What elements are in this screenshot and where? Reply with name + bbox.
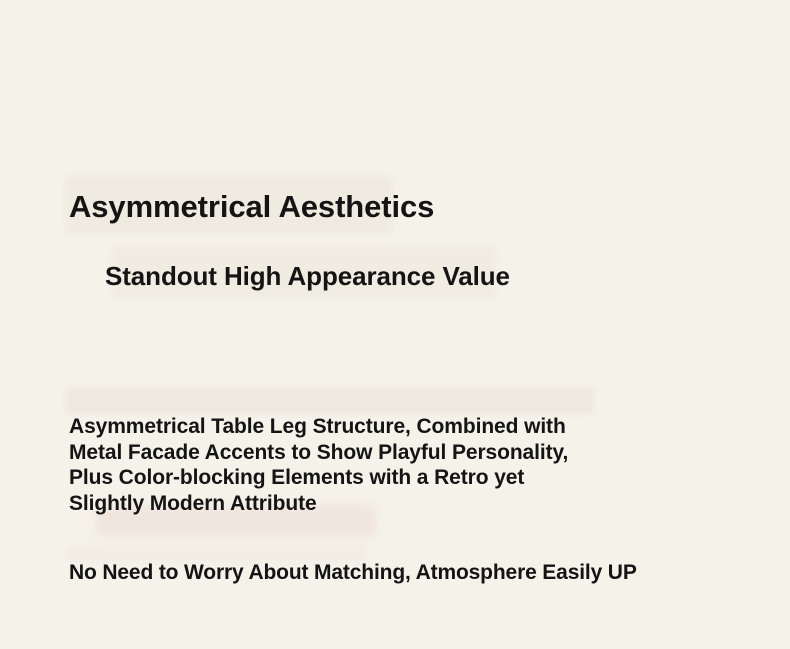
subtitle: Standout High Appearance Value [105,259,510,293]
page-title: Asymmetrical Aesthetics [69,188,434,226]
promo-poster: Asymmetrical Aesthetics Standout High Ap… [0,0,790,649]
tagline: No Need to Worry About Matching, Atmosph… [69,560,637,586]
text-layer: Asymmetrical Aesthetics Standout High Ap… [0,0,790,649]
feature-description: Asymmetrical Table Leg Structure, Combin… [69,414,568,516]
